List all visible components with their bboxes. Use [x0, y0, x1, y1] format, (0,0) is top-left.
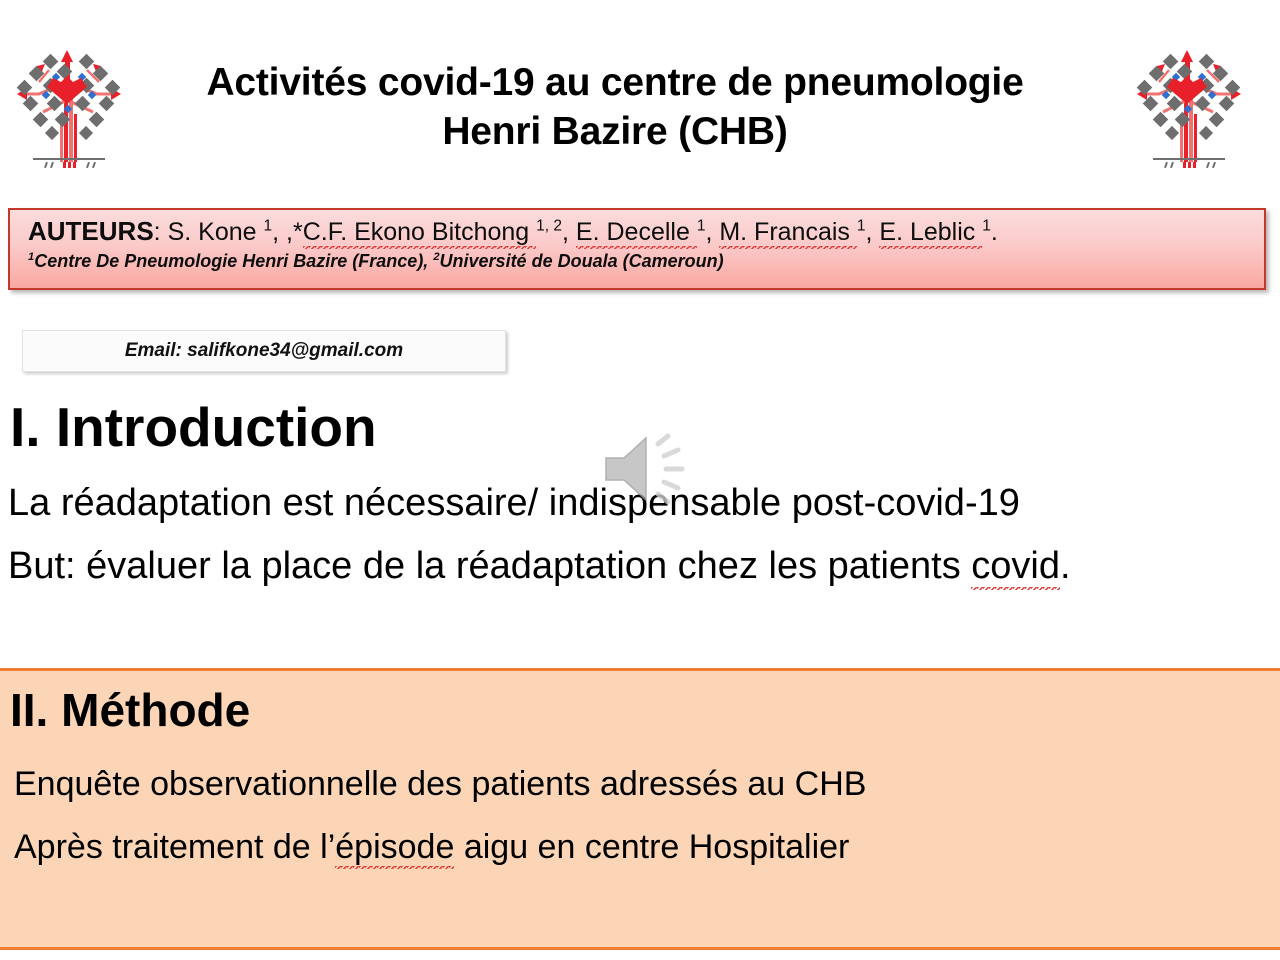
affiliation-1: Centre De Pneumologie Henri Bazire (Fran…	[34, 251, 433, 271]
speaker-audio-icon[interactable]	[600, 430, 692, 508]
author-affil-ref-2: 1, 2	[536, 218, 562, 235]
author-name-1: S. Kone	[168, 218, 264, 246]
authors-comma-3: ,	[705, 218, 719, 246]
introduction-heading: I. Introduction	[10, 396, 377, 458]
methode-line-2-part-c: aigu en centre Hospitalier	[454, 828, 849, 866]
methode-line-2: Après traitement de l’épisode aigu en ce…	[14, 826, 849, 868]
authors-bar: AUTEURS: S. Kone 1, ,*C.F. Ekono Bitchon…	[8, 208, 1266, 290]
methode-line-2-part-b: épisode	[335, 828, 454, 869]
slide-header: Activités covid-19 au centre de pneumolo…	[0, 0, 1280, 200]
affiliations: 1Centre De Pneumologie Henri Bazire (Fra…	[28, 249, 1264, 273]
author-name-5: E. Leblic	[879, 218, 982, 249]
methode-line-2-part-a: Après traitement de l’	[14, 828, 335, 866]
introduction-line-1: La réadaptation est nécessaire/ indispen…	[8, 480, 1020, 526]
author-affil-ref-1: 1	[263, 218, 272, 235]
affiliation-2: Université de Douala (Cameroun)	[440, 251, 724, 271]
introduction-line-2-part-c: .	[1060, 545, 1071, 587]
methode-heading: II. Méthode	[10, 683, 250, 737]
author-name-3: E. Decelle	[576, 218, 697, 249]
organization-tree-logo-right	[1128, 42, 1250, 170]
authors-list: AUTEURS: S. Kone 1, ,*C.F. Ekono Bitchon…	[28, 216, 1264, 248]
section-methode: II. Méthode Enquête observationnelle des…	[0, 668, 1280, 950]
authors-label: AUTEURS	[28, 216, 154, 246]
authors-end-punct: .	[991, 218, 998, 246]
authors-comma-2: ,	[562, 218, 576, 246]
methode-line-1: Enquête observationnelle des patients ad…	[14, 763, 866, 805]
introduction-line-2: But: évaluer la place de la réadaptation…	[8, 543, 1071, 589]
authors-mid-punct: , ,*	[272, 218, 303, 246]
authors-comma-4: ,	[866, 218, 880, 246]
slide-title: Activités covid-19 au centre de pneumolo…	[140, 58, 1090, 156]
introduction-line-2-part-a: But: évaluer la place de la réadaptation…	[8, 545, 971, 587]
introduction-line-2-part-b: covid	[971, 545, 1060, 590]
author-name-4: M. Francais	[719, 218, 857, 249]
authors-separator: :	[154, 218, 168, 246]
slide-title-line-2: Henri Bazire (CHB)	[140, 107, 1090, 156]
author-affil-ref-4: 1	[857, 218, 866, 235]
slide-title-line-1: Activités covid-19 au centre de pneumolo…	[140, 58, 1090, 107]
organization-tree-logo-left	[8, 42, 130, 170]
email-text: Email: salifkone34@gmail.com	[125, 340, 403, 362]
author-affil-ref-5: 1	[982, 218, 991, 235]
email-box: Email: salifkone34@gmail.com	[22, 330, 506, 372]
author-name-2: C.F. Ekono Bitchong	[303, 218, 536, 249]
